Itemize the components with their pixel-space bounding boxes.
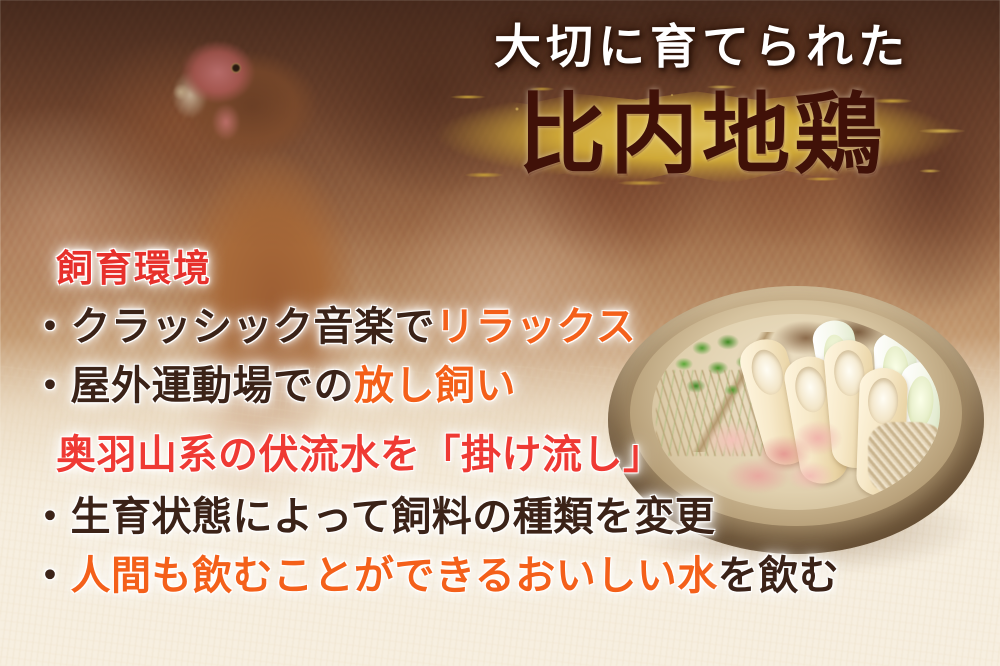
headline-block: 大切に育てられた 比内地鶏 [422,24,982,197]
list-item: ・クラッシック音楽でリラックス [30,299,910,356]
list-item: ・屋外運動場での放し飼い [30,358,910,415]
list-item-accent: リラックス [435,305,636,349]
list-item-accent: 放し飼い [354,364,516,408]
title-band: 比内地鶏 [422,79,982,197]
list-item-accent: 人間も飲むことができるおいしい水 [71,554,718,598]
list-item-text: 屋外運動場での [71,364,355,408]
list-item: ・生育状態によって飼料の種類を変更 [30,489,910,546]
bullet-marker: ・ [30,554,71,598]
list-item-text: 生育状態によって飼料の種類を変更 [71,495,716,539]
bullet-marker: ・ [30,495,71,539]
page-title: 比内地鶏 [422,79,982,195]
list-item-text: を飲む [718,554,840,598]
list-item-text: クラッシック音楽で [71,305,436,349]
bullet-marker: ・ [30,305,71,349]
copy-block: 飼育環境 ・クラッシック音楽でリラックス ・屋外運動場での放し飼い 奥羽山系の伏… [30,248,910,605]
highlight-water-statement: 奥羽山系の伏流水を「掛け流し」 [56,425,910,485]
list-item: ・人間も飲むことができるおいしい水を飲む [30,548,910,605]
banner-root: 大切に育てられた 比内地鶏 飼育環境 ・クラッシック音楽でリラックス ・屋外運動… [0,0,1000,666]
headline-kicker: 大切に育てられた [422,24,982,73]
section-heading-breeding-environment: 飼育環境 [56,248,910,291]
bullet-marker: ・ [30,364,71,408]
